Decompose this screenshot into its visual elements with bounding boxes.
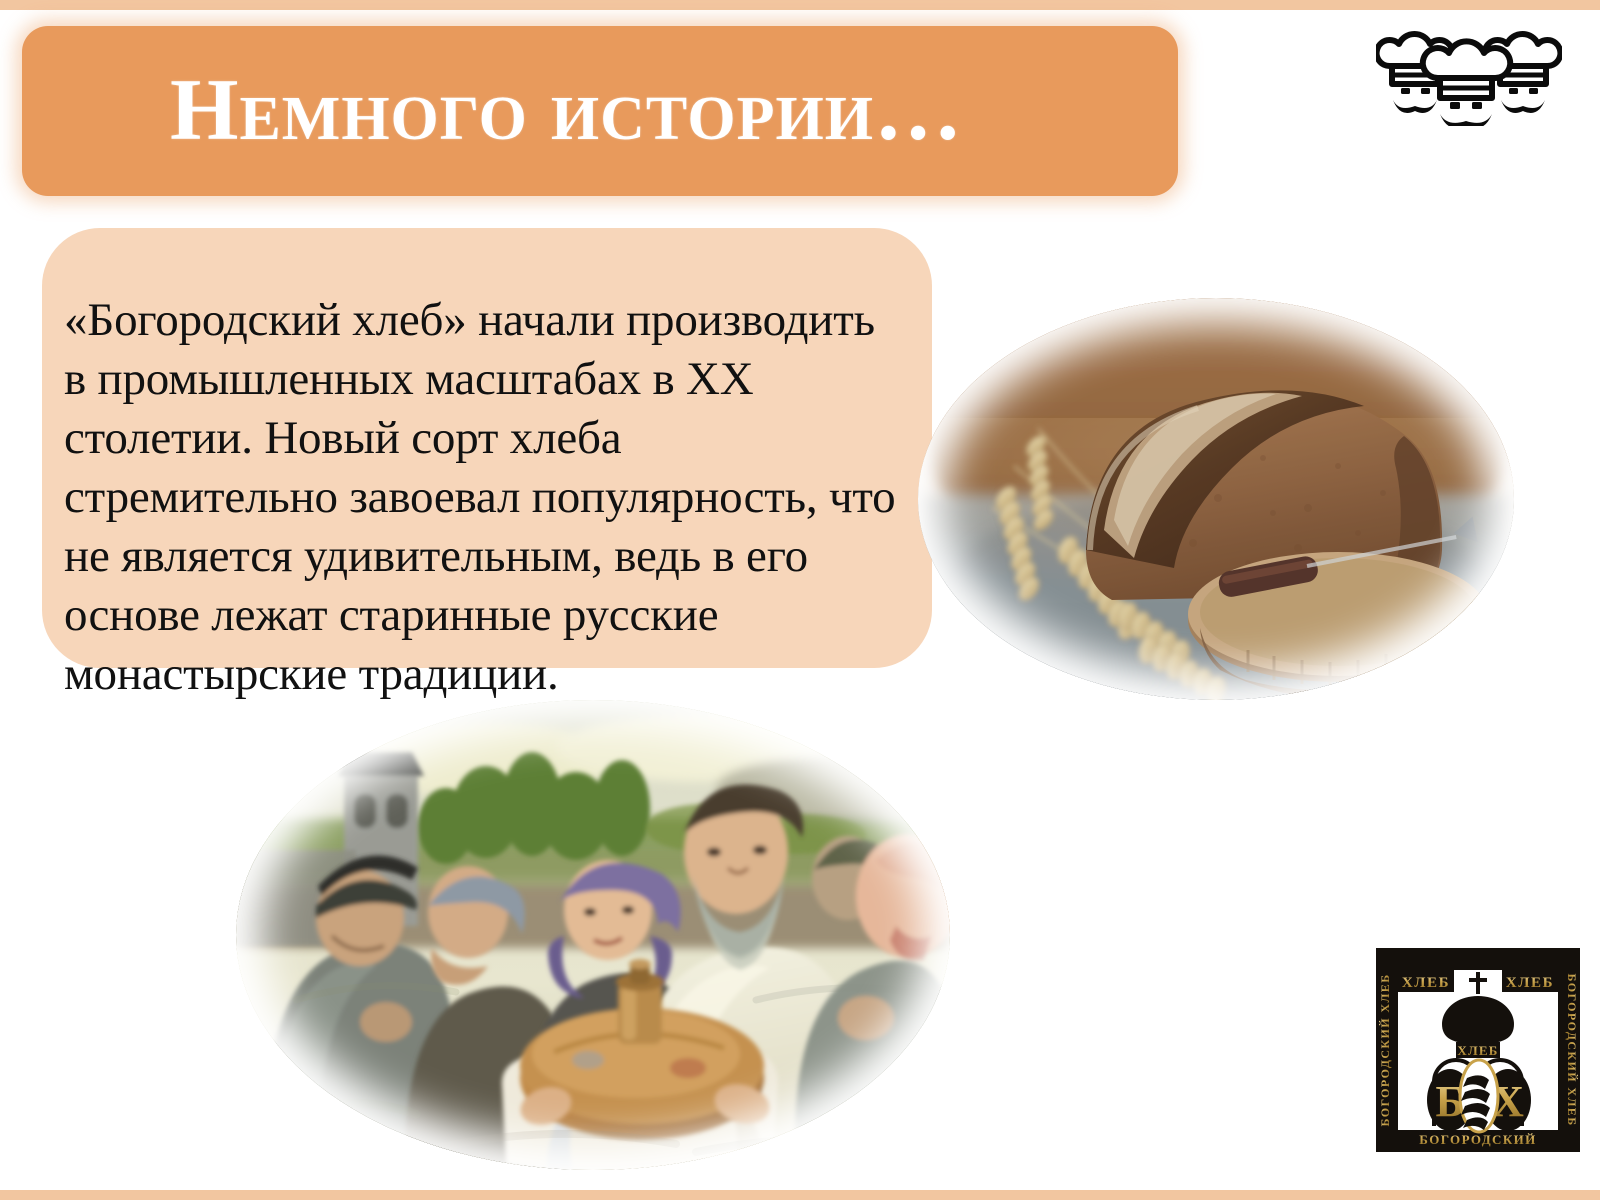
- bogorodsky-khleb-logo: БОГОРОДСКИЙ БОГОРОДСКИЙ ХЛЕБ БОГОРОДСКИЙ…: [1372, 944, 1584, 1156]
- body-text-card: «Богородский хлеб» начали производить в …: [42, 228, 932, 668]
- chef-hats-icon: [1376, 22, 1562, 126]
- logo-dome-word: ХЛЕБ: [1457, 1043, 1498, 1058]
- slide-canvas: Немного истории…: [0, 0, 1600, 1200]
- logo-left-word: БОГОРОДСКИЙ ХЛЕБ: [1378, 973, 1392, 1126]
- bottom-edge-strip: [0, 1190, 1600, 1200]
- logo-top-left-word: ХЛЕБ: [1402, 975, 1450, 991]
- page-title: Немного истории…: [170, 67, 963, 155]
- logo-top-right-word: ХЛЕБ: [1506, 975, 1554, 991]
- bread-photo: [918, 298, 1514, 700]
- logo-right-word: БОГОРОДСКИЙ ХЛЕБ: [1565, 973, 1579, 1126]
- logo-bottom-word: БОГОРОДСКИЙ: [1419, 1132, 1536, 1147]
- top-edge-strip: [0, 0, 1600, 10]
- title-banner: Немного истории…: [22, 26, 1178, 196]
- painting-photo: [236, 700, 950, 1170]
- body-paragraph: «Богородский хлеб» начали производить в …: [64, 291, 904, 704]
